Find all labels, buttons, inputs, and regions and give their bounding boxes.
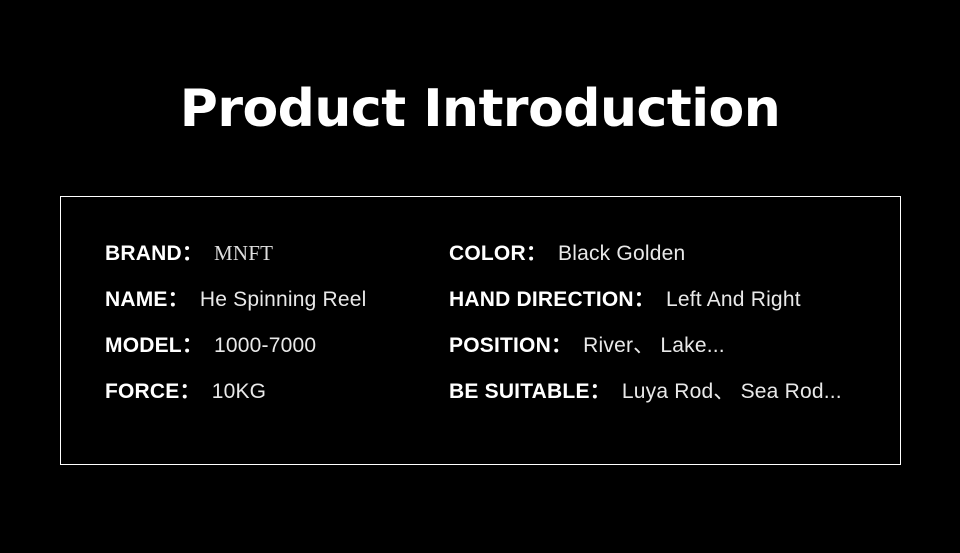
spec-column-right: COLOR： Black Golden HAND DIRECTION： Left… <box>449 237 842 421</box>
spec-value-name: He Spinning Reel <box>200 288 367 312</box>
spec-row-model: MODEL： 1000-7000 <box>105 329 366 375</box>
spec-label-color: COLOR： <box>449 237 547 267</box>
spec-value-be-suitable: Luya Rod、 Sea Rod... <box>622 375 842 405</box>
spec-row-be-suitable: BE SUITABLE： Luya Rod、 Sea Rod... <box>449 375 842 421</box>
spec-value-position: River、 Lake... <box>583 329 725 359</box>
spec-label-be-suitable: BE SUITABLE： <box>449 375 611 405</box>
spec-label-hand-direction: HAND DIRECTION： <box>449 283 655 313</box>
spec-row-brand: BRAND： MNFT <box>105 237 366 283</box>
spec-row-name: NAME： He Spinning Reel <box>105 283 366 329</box>
specification-frame: BRAND： MNFT NAME： He Spinning Reel MODEL… <box>60 196 901 465</box>
spec-label-model: MODEL： <box>105 329 203 359</box>
product-introduction-banner: Product Introduction BRAND： MNFT NAME： H… <box>0 0 960 553</box>
spec-column-left: BRAND： MNFT NAME： He Spinning Reel MODEL… <box>105 237 366 421</box>
spec-label-name: NAME： <box>105 283 189 313</box>
spec-value-model: 1000-7000 <box>214 334 316 358</box>
spec-row-force: FORCE： 10KG <box>105 375 366 421</box>
specification-columns: BRAND： MNFT NAME： He Spinning Reel MODEL… <box>61 197 902 466</box>
spec-label-position: POSITION： <box>449 329 572 359</box>
spec-value-hand-direction: Left And Right <box>666 288 801 312</box>
page-title: Product Introduction <box>0 78 960 140</box>
spec-row-hand-direction: HAND DIRECTION： Left And Right <box>449 283 842 329</box>
spec-value-brand: MNFT <box>214 241 273 266</box>
spec-row-color: COLOR： Black Golden <box>449 237 842 283</box>
spec-label-force: FORCE： <box>105 375 201 405</box>
spec-row-position: POSITION： River、 Lake... <box>449 329 842 375</box>
spec-value-color: Black Golden <box>558 242 685 266</box>
spec-label-brand: BRAND： <box>105 237 203 267</box>
spec-value-force: 10KG <box>212 380 267 404</box>
